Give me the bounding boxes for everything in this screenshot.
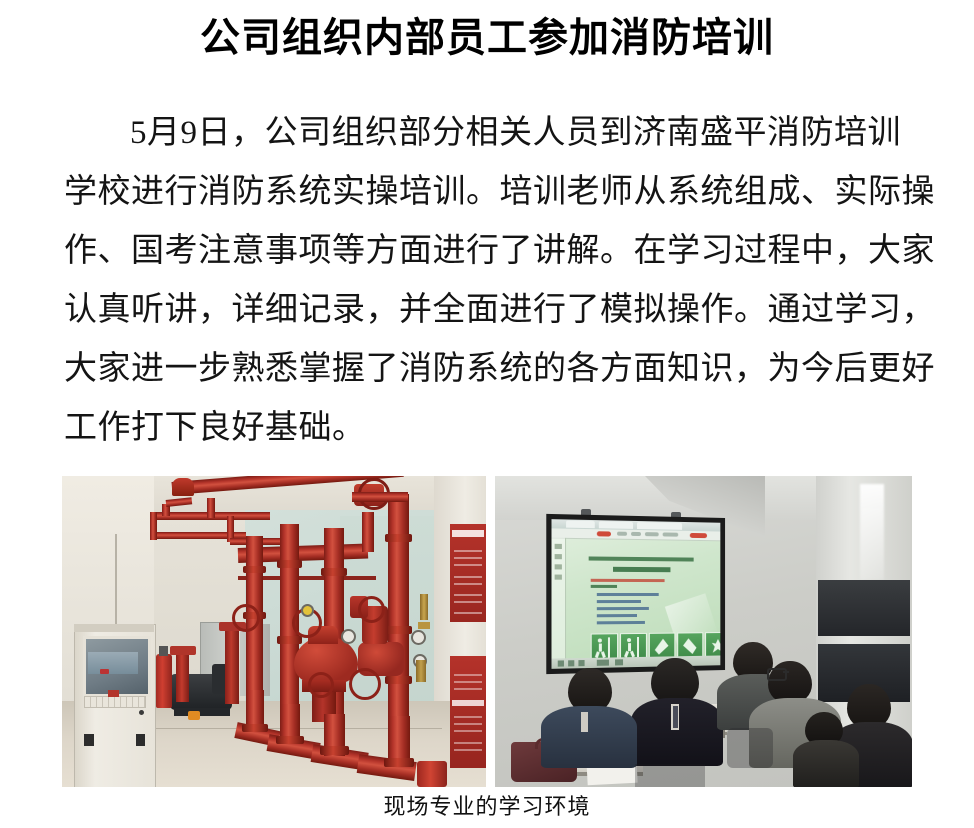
body-line: 学校进行消防系统实操培训。培训老师从系统组成、实际操	[64, 163, 912, 222]
photo-row	[62, 476, 912, 787]
photo-classroom-training	[495, 476, 912, 787]
page-title: 公司组织内部员工参加消防培训	[0, 12, 974, 64]
article-body: 5月9日，公司组织部分相关人员到济南盛平消防培训 学校进行消防系统实操培训。培训…	[64, 104, 912, 458]
photo-caption: 现场专业的学习环境	[0, 792, 974, 822]
poster-end-test-water	[450, 524, 486, 622]
body-line: 工作打下良好基础。	[64, 399, 912, 458]
body-line: 大家进一步熟悉掌握了消防系统的各方面知识，为今后更好	[64, 340, 912, 399]
body-line: 5月9日，公司组织部分相关人员到济南盛平消防培训	[64, 104, 912, 163]
body-line: 认真听讲，详细记录，并全面进行了模拟操作。通过学习，	[64, 281, 912, 340]
projector-screen	[546, 514, 725, 674]
body-line: 作、国考注意事项等方面进行了讲解。在学习过程中，大家	[64, 222, 912, 281]
photo-fire-pump-room	[62, 476, 486, 787]
poster-extinguisher-info	[450, 656, 486, 768]
